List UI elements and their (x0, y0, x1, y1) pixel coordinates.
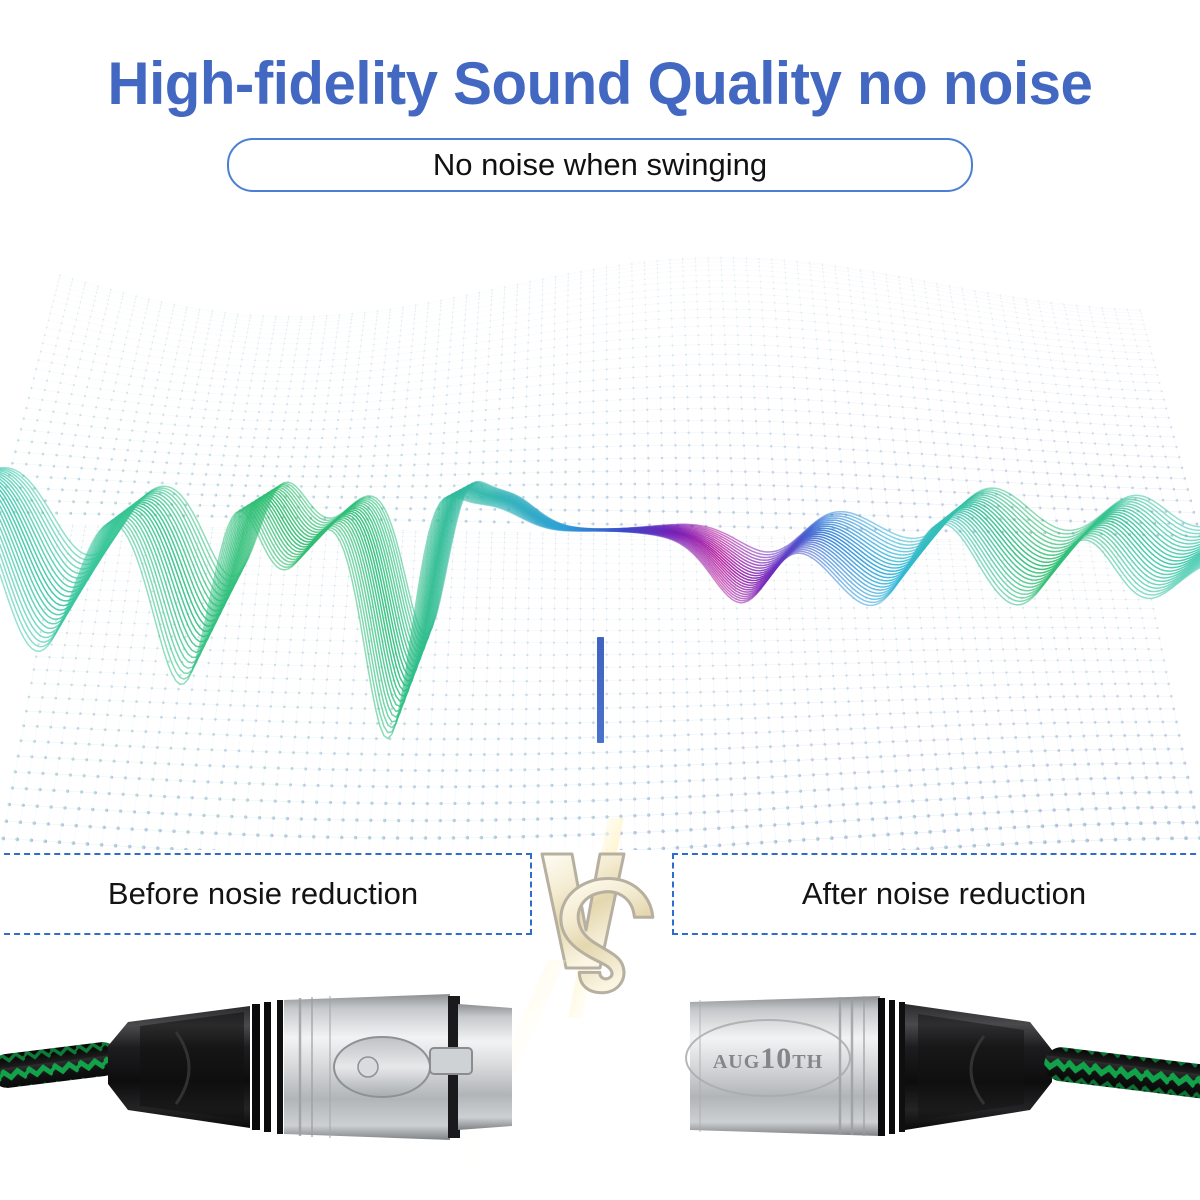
vs-letter-v (542, 854, 624, 968)
before-label-text: Before nosie reduction (108, 877, 418, 911)
after-label-box: After noise reduction (672, 853, 1200, 935)
xlr-female-connector (0, 994, 512, 1140)
cable-right (1042, 1045, 1200, 1100)
before-label-box: Before nosie reduction (0, 853, 532, 935)
waveform-graphic (0, 190, 1200, 850)
subtitle-pill: No noise when swinging (227, 138, 973, 192)
product-feature-image: High-fidelity Sound Quality no noise No … (0, 0, 1200, 1200)
xlr-male-connector: AUG10TH (686, 996, 1200, 1136)
center-marker-bar (597, 637, 604, 743)
subtitle-text: No noise when swinging (433, 149, 767, 181)
page-title: High-fidelity Sound Quality no noise (18, 52, 1182, 116)
xlr-connectors-graphic: AUG10TH (0, 960, 1200, 1200)
latch-button-left (334, 1037, 430, 1097)
after-label-text: After noise reduction (802, 877, 1086, 911)
pin-slot-left (430, 1048, 472, 1074)
comparison-section: Before nosie reduction After noise reduc… (0, 850, 1200, 970)
cable-left (0, 1040, 122, 1090)
